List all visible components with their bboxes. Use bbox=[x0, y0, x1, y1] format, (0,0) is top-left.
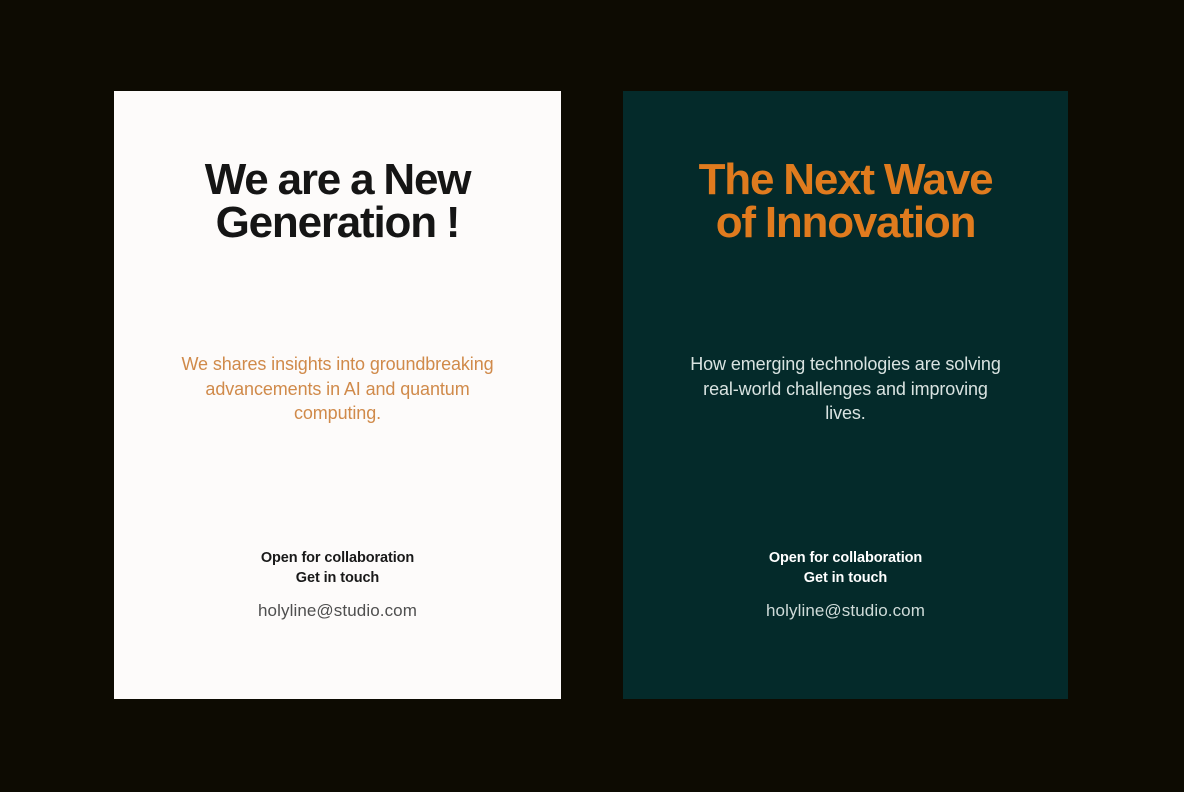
dark-card-heading: The Next Wave of Innovation bbox=[623, 158, 1068, 244]
body-line: computing. bbox=[174, 401, 501, 426]
cta-line: Open for collaboration bbox=[653, 549, 1038, 569]
body-line: real-world challenges and improving bbox=[683, 377, 1008, 402]
light-card-footer: Open for collaboration Get in touch holy… bbox=[114, 549, 561, 621]
dark-card-footer: Open for collaboration Get in touch holy… bbox=[623, 549, 1068, 621]
dark-card-body: How emerging technologies are solving re… bbox=[623, 352, 1068, 426]
dark-card-cta: Open for collaboration Get in touch bbox=[653, 549, 1038, 588]
light-poster-card[interactable]: We are a New Generation ! We shares insi… bbox=[114, 91, 561, 699]
body-line: We shares insights into groundbreaking bbox=[174, 352, 501, 377]
cta-line: Open for collaboration bbox=[144, 549, 531, 569]
light-card-cta: Open for collaboration Get in touch bbox=[144, 549, 531, 588]
cta-line: Get in touch bbox=[144, 569, 531, 589]
cta-line: Get in touch bbox=[653, 569, 1038, 589]
light-card-heading: We are a New Generation ! bbox=[114, 158, 561, 244]
body-line: advancements in AI and quantum bbox=[174, 377, 501, 402]
dark-card-email[interactable]: holyline@studio.com bbox=[653, 601, 1038, 621]
body-line: lives. bbox=[683, 401, 1008, 426]
heading-line: The Next Wave bbox=[649, 158, 1042, 201]
light-card-email[interactable]: holyline@studio.com bbox=[144, 601, 531, 621]
light-card-body: We shares insights into groundbreaking a… bbox=[114, 352, 561, 426]
heading-line: We are a New bbox=[140, 158, 535, 201]
heading-line: of Innovation bbox=[649, 201, 1042, 244]
dark-poster-card[interactable]: The Next Wave of Innovation How emerging… bbox=[623, 91, 1068, 699]
heading-line: Generation ! bbox=[140, 201, 535, 244]
slide-canvas: We are a New Generation ! We shares insi… bbox=[0, 0, 1184, 792]
body-line: How emerging technologies are solving bbox=[683, 352, 1008, 377]
